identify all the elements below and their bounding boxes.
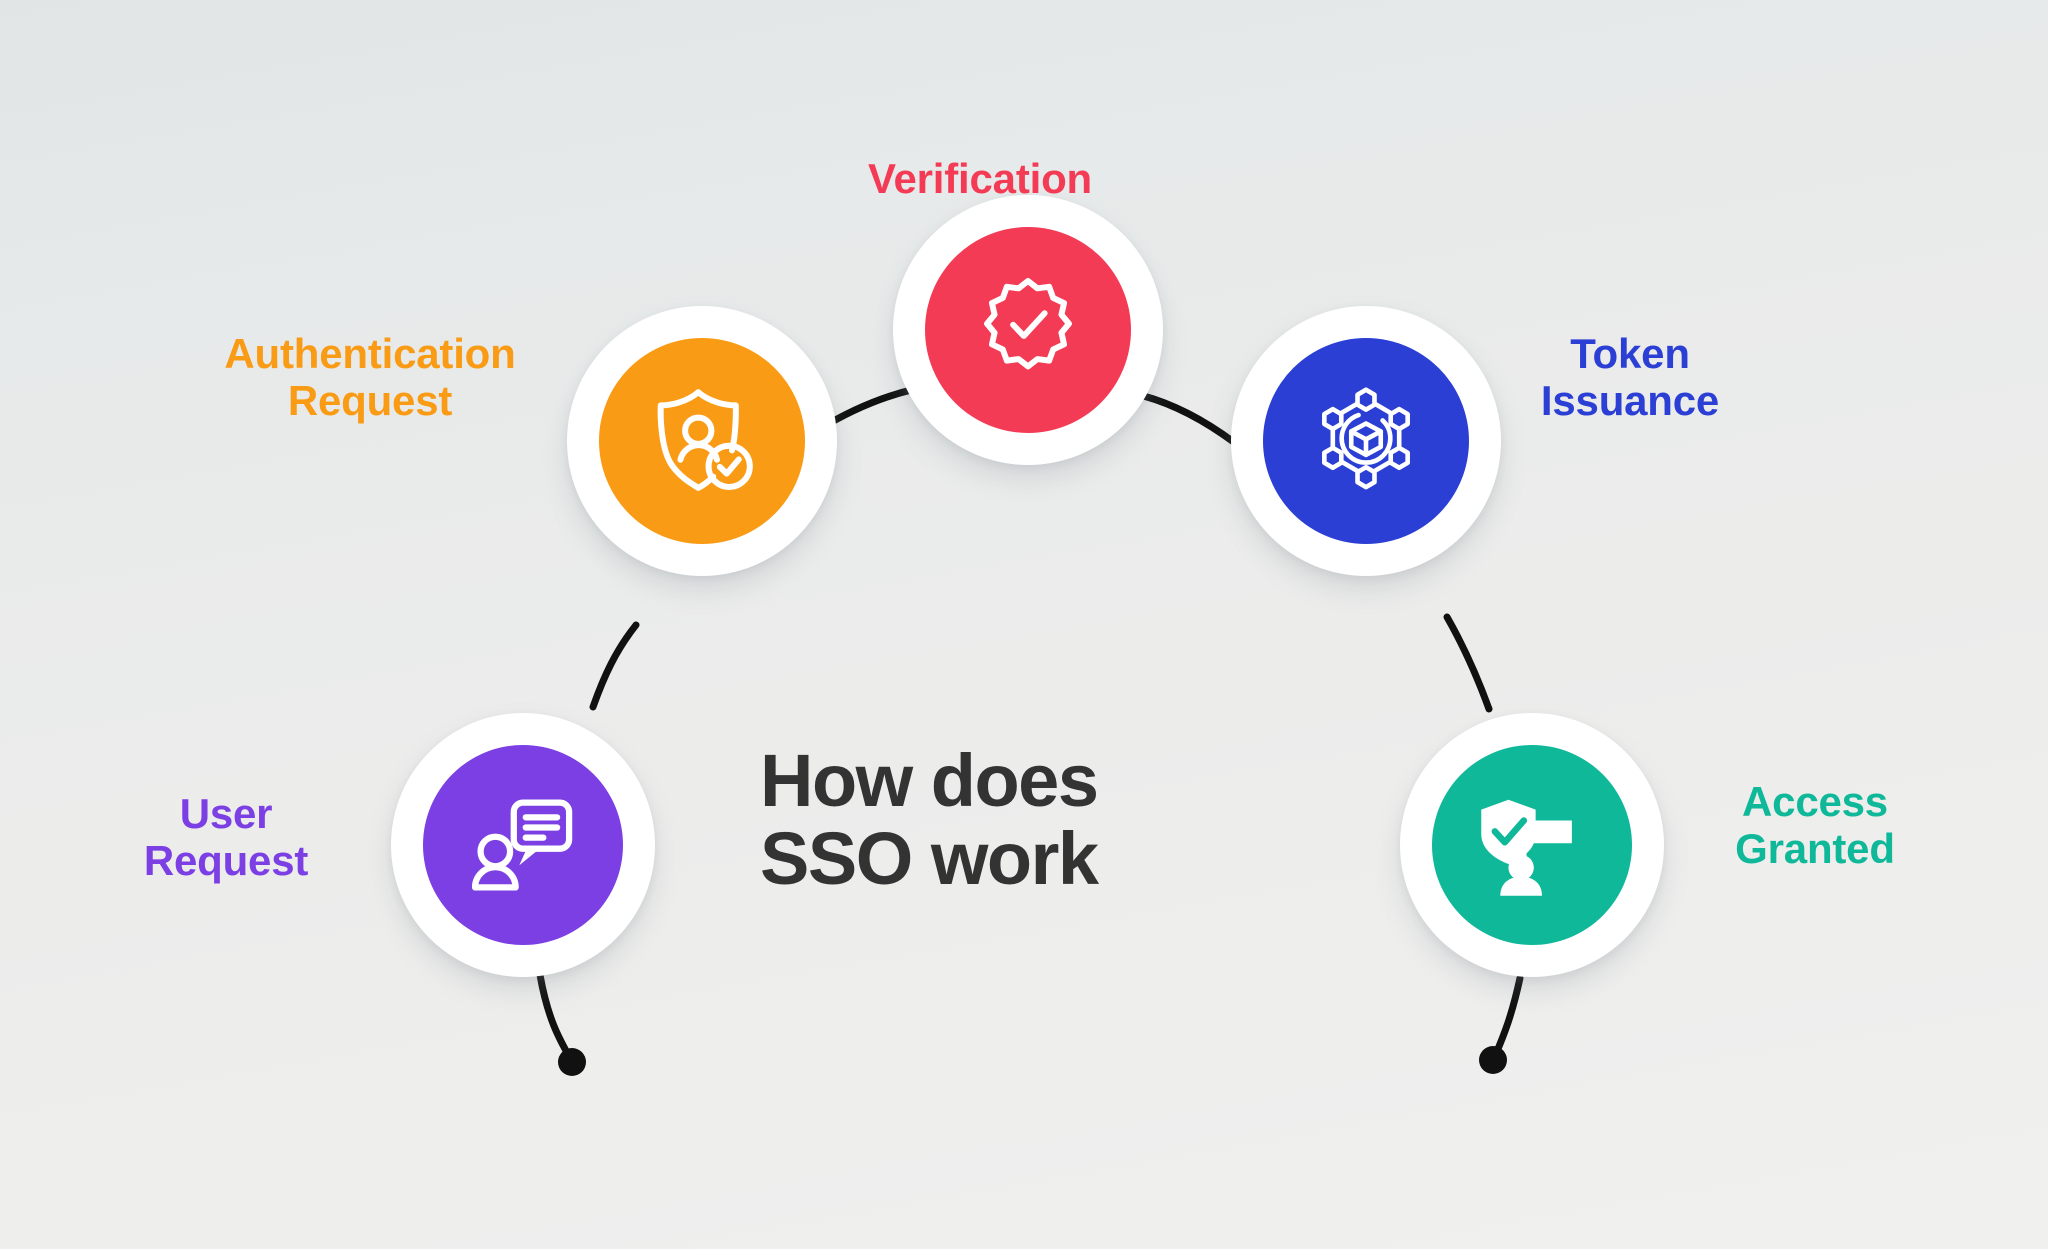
node-authentication-request[interactable]: [567, 306, 837, 576]
node-access-granted[interactable]: [1400, 713, 1664, 977]
node-token-issuance[interactable]: [1231, 306, 1501, 576]
label-access-granted: Access Granted: [1690, 778, 1940, 872]
connector-user-to-auth: [593, 625, 636, 707]
connector-token-to-access: [1447, 617, 1489, 709]
token-issuance-disc: [1263, 338, 1469, 544]
connector-tail-left: [540, 975, 570, 1058]
network-cube-icon: [1307, 382, 1425, 500]
connector-tail-right: [1495, 978, 1520, 1056]
label-user-request: User Request: [96, 790, 356, 884]
person-speech-bubble-icon: [464, 786, 582, 904]
page-title: How does SSO work: [760, 742, 1300, 899]
sso-flow-diagram: User Request Authentication Request: [0, 0, 2048, 1249]
label-authentication-request: Authentication Request: [160, 330, 580, 424]
user-request-disc: [423, 745, 623, 945]
verification-disc: [925, 227, 1131, 433]
access-granted-disc: [1432, 745, 1632, 945]
connector-endpoint-right-dot: [1479, 1046, 1507, 1074]
node-verification[interactable]: [893, 195, 1163, 465]
shield-key-person-icon: [1474, 787, 1590, 903]
connector-endpoint-left-dot: [558, 1048, 586, 1076]
authentication-request-disc: [599, 338, 805, 544]
label-verification: Verification: [780, 155, 1180, 202]
shield-person-check-icon: [642, 381, 762, 501]
node-user-request[interactable]: [391, 713, 655, 977]
badge-check-icon: [972, 274, 1084, 386]
label-token-issuance: Token Issuance: [1480, 330, 1780, 424]
